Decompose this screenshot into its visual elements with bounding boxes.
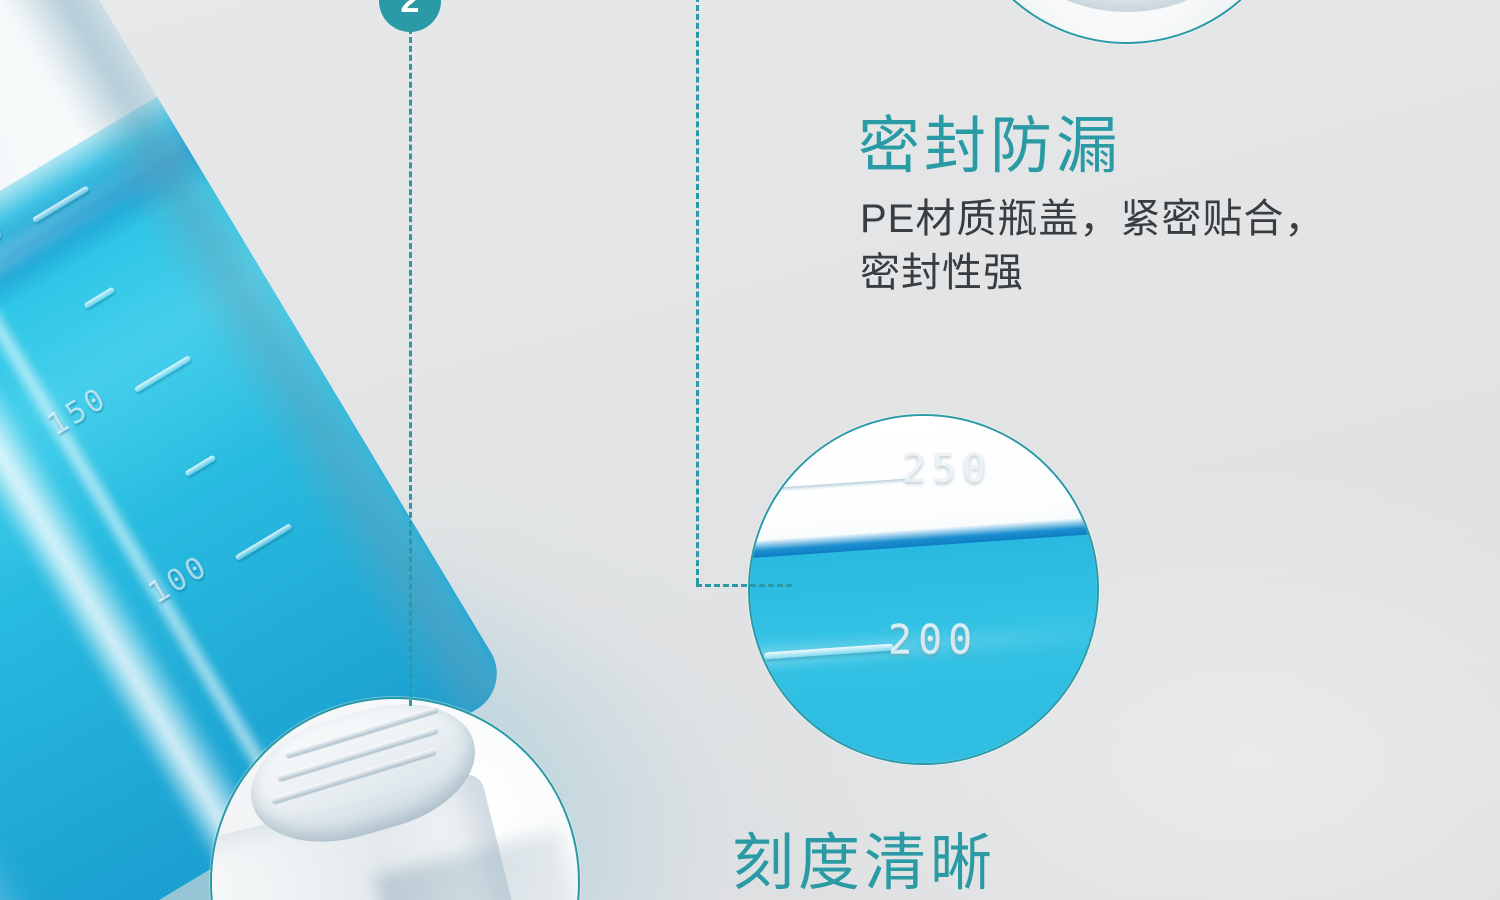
scale-closeup-circle: 250 200 xyxy=(748,414,1099,765)
scale-label-250: 250 xyxy=(902,446,992,492)
cap-ring xyxy=(1015,0,1239,12)
scale-label-200: 200 xyxy=(888,618,978,664)
cap-closeup-circle xyxy=(955,0,1299,44)
connector-line-vertical-left xyxy=(409,28,412,706)
product-detail-page: 250 150 100 250 200 2 xyxy=(0,0,1500,900)
connector-line-vertical-right xyxy=(696,0,699,584)
feature-description-seal: PE材质瓶盖，紧密贴合， 密封性强 xyxy=(860,192,1460,300)
feature-heading-seal: 密封防漏 xyxy=(858,95,1122,185)
feature-heading-scale: 刻度清晰 xyxy=(732,812,996,900)
connector-line-horizontal-right xyxy=(696,584,792,587)
